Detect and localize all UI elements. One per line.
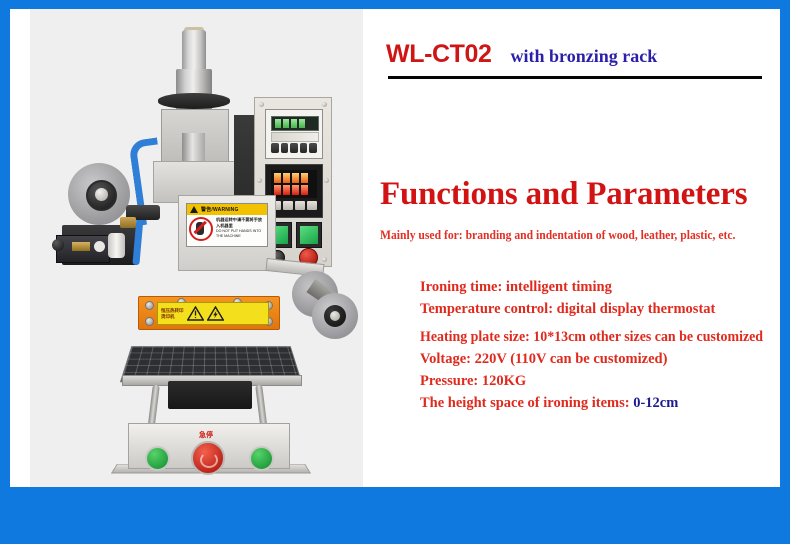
bracket-bolt <box>145 317 154 326</box>
content-card: 警告/WARNING 机器运转中请不要将手放入机器里 DO NOT PUT HA… <box>10 9 780 487</box>
emergency-stop-label: 急停 <box>192 430 220 440</box>
thermostat-digit <box>301 173 308 183</box>
timer-legend-strip <box>271 132 319 142</box>
timer-digit <box>291 119 297 128</box>
section-heading: Functions and Parameters <box>380 176 747 213</box>
bracket-bolt <box>145 301 154 310</box>
timer-button-row[interactable] <box>271 143 317 153</box>
specification-list: Ironing time: intelligent timing Tempera… <box>380 276 780 414</box>
start-button-left[interactable] <box>145 446 170 471</box>
bronzing-rack-knob <box>52 239 64 251</box>
thermostat-pv-row <box>274 173 308 183</box>
warning-triangle-icon <box>190 206 198 213</box>
work-table-support <box>168 381 252 409</box>
bronzing-rack-roller <box>108 233 125 258</box>
heating-plate-label: 恒压热转印 烫印机 <box>157 302 269 325</box>
thermostat-digit <box>292 173 299 183</box>
thermostat-button-row[interactable] <box>271 201 317 210</box>
model-name: WL-CT02 <box>386 40 492 69</box>
no-hands-icon <box>189 217 213 241</box>
intelligent-timer-unit[interactable] <box>265 109 323 159</box>
panel-screw <box>322 257 327 262</box>
start-button-right[interactable] <box>249 446 274 471</box>
warning-label: 警告/WARNING 机器运转中请不要将手放入机器里 DO NOT PUT HA… <box>186 203 268 247</box>
spec-item-voltage: Voltage: 220V (110V can be customized) <box>420 348 780 370</box>
timer-digit <box>275 119 281 128</box>
panel-screw <box>257 178 262 183</box>
foil-reel-hub <box>86 180 117 211</box>
timer-button[interactable] <box>271 143 279 153</box>
spec-height-label: The height space of ironing items: <box>420 395 633 411</box>
air-valve-brass-fitting <box>120 217 136 228</box>
cylinder-top-rod <box>182 30 206 74</box>
usage-summary: Mainly used for: branding and indentatio… <box>380 228 752 243</box>
panel-screw <box>324 178 329 183</box>
bronzing-rack-brass-block <box>72 242 90 251</box>
warning-text-chinese: 机器运转中请不要将手放入机器里 <box>216 217 265 229</box>
panel-screw <box>259 102 264 107</box>
panel-screw <box>322 102 327 107</box>
hot-stamping-machine-illustration: 警告/WARNING 机器运转中请不要将手放入机器里 DO NOT PUT HA… <box>30 9 363 487</box>
thermostat-display <box>271 170 317 198</box>
spec-height-value: 0-12cm <box>633 395 678 411</box>
takeup-reel-core <box>324 305 346 327</box>
warning-label-body: 机器运转中请不要将手放入机器里 DO NOT PUT HANDS INTO TH… <box>187 215 267 243</box>
bronzing-rack-hole <box>94 241 105 252</box>
thermostat-button[interactable] <box>283 201 293 210</box>
warning-text-english: DO NOT PUT HANDS INTO THE MACHINE <box>216 229 261 238</box>
bottom-blue-band <box>0 487 790 544</box>
hot-surface-warning-icon <box>187 306 204 321</box>
thermostat-digit <box>274 173 281 183</box>
thermostat-digit <box>283 173 290 183</box>
spec-item-pressure: Pressure: 120KG <box>420 370 780 392</box>
product-photo: 警告/WARNING 机器运转中请不要将手放入机器里 DO NOT PUT HA… <box>30 9 363 487</box>
emergency-stop-button[interactable] <box>191 441 225 475</box>
timer-digit <box>299 119 305 128</box>
timer-digits <box>275 119 305 128</box>
timer-display <box>271 116 319 131</box>
timer-button[interactable] <box>309 143 317 153</box>
plate-brand-text: 恒压热转印 烫印机 <box>161 308 184 320</box>
heater-rocker-switch[interactable] <box>296 222 322 248</box>
spec-item-heating-plate-size: Heating plate size: 10*13cm other sizes … <box>420 326 780 348</box>
thermostat-sv-row <box>274 185 308 195</box>
timer-button[interactable] <box>290 143 298 153</box>
timer-digit <box>283 119 289 128</box>
spec-item-height-space: The height space of ironing items: 0-12c… <box>420 392 780 414</box>
spec-item-ironing-time: Ironing time: intelligent timing <box>420 276 780 298</box>
electrical-warning-icon <box>207 306 224 321</box>
thermostat-digit <box>283 185 290 195</box>
heating-plate-bracket: 恒压热转印 烫印机 <box>138 296 280 330</box>
product-text-column: WL-CT02 with bronzing rack Functions and… <box>363 9 780 487</box>
model-subtitle: with bronzing rack <box>511 46 658 67</box>
spec-item-temperature-control: Temperature control: digital display the… <box>420 298 780 320</box>
operator-button-box: 急停 <box>128 423 290 469</box>
timer-button[interactable] <box>281 143 289 153</box>
title-divider <box>388 76 762 79</box>
thermostat-digit <box>292 185 299 195</box>
warning-label-text: 机器运转中请不要将手放入机器里 DO NOT PUT HANDS INTO TH… <box>216 217 265 241</box>
thermostat-button[interactable] <box>295 201 305 210</box>
thermostat-button[interactable] <box>307 201 317 210</box>
thermostat-digit <box>301 185 308 195</box>
thermostat-digit <box>274 185 281 195</box>
cylinder-collar <box>158 93 230 109</box>
warning-label-header: 警告/WARNING <box>187 204 267 215</box>
product-info-banner: 警告/WARNING 机器运转中请不要将手放入机器里 DO NOT PUT HA… <box>0 0 790 544</box>
title-row: WL-CT02 with bronzing rack <box>386 40 766 69</box>
rocker-switch-lens <box>300 226 318 244</box>
warning-label-header-text: 警告/WARNING <box>201 206 239 213</box>
timer-button[interactable] <box>300 143 308 153</box>
